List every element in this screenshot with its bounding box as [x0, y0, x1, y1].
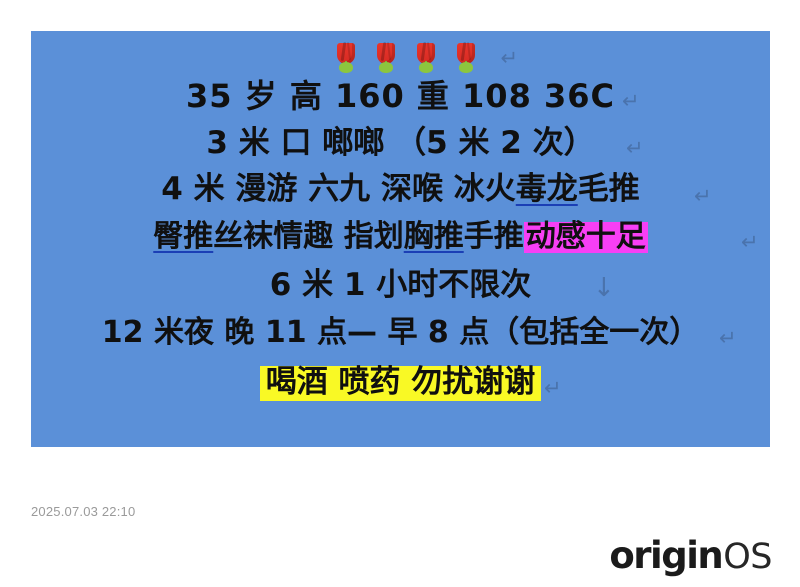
- poster-text-highlight-magenta: 动感十足: [524, 222, 648, 253]
- poster-text-highlight-yellow: 喝酒 喷药 勿扰谢谢: [260, 366, 542, 401]
- timestamp-label: 2025.07.03 22:10: [31, 504, 135, 519]
- return-mark-icon: ↵: [544, 378, 562, 399]
- return-mark-icon: ↵: [622, 91, 641, 112]
- poster-text: 丝袜情趣 指划: [213, 222, 403, 253]
- poster-text: 35 岁 高 160 重 108 36C: [186, 80, 615, 113]
- image-panel[interactable]: ↵ 35 岁 高 160 重 108 36C ↵ 3 米 口 啷啷 （5 米 2…: [31, 31, 770, 447]
- poster-text-block: ↵ 35 岁 高 160 重 108 36C ↵ 3 米 口 啷啷 （5 米 2…: [31, 31, 770, 447]
- poster-text: 4 米 漫游 六九 深喉 冰火: [161, 174, 516, 206]
- watermark-os-text: OS: [723, 537, 772, 577]
- poster-text: 手推: [464, 222, 524, 253]
- poster-line-notice: 喝酒 喷药 勿扰谢谢 ↵: [31, 366, 770, 414]
- poster-line-3m: 3 米 口 啷啷 （5 米 2 次） ↵: [31, 128, 770, 174]
- return-mark-icon: ↵: [741, 232, 759, 253]
- tulip-emoji: [375, 43, 397, 73]
- poster-line-6m: 6 米 1 小时不限次 ↓: [31, 270, 770, 318]
- down-arrow-mark-icon: ↓: [593, 275, 615, 302]
- poster-text: 6 米 1 小时不限次: [270, 270, 532, 302]
- poster-text-underlined: 胸推: [404, 222, 464, 253]
- return-mark-icon: ↵: [694, 186, 712, 207]
- return-mark-icon: ↵: [626, 138, 644, 159]
- screenshot-canvas: ↵ 35 岁 高 160 重 108 36C ↵ 3 米 口 啷啷 （5 米 2…: [0, 0, 800, 587]
- poster-text: 毛推: [578, 174, 640, 206]
- tulip-emoji: [335, 43, 357, 73]
- poster-text: 3 米 口 啷啷 （5 米 2 次）: [206, 128, 594, 160]
- originos-watermark: originOS: [609, 534, 772, 574]
- poster-text-underlined: 臀推: [153, 222, 213, 253]
- flower-emoji-row: ↵: [31, 36, 770, 80]
- return-mark-icon: ↵: [719, 328, 737, 349]
- poster-text-underlined: 毒龙: [516, 174, 578, 206]
- return-mark-icon: ↵: [501, 48, 530, 69]
- poster-line-12m: 12 米夜 晚 11 点— 早 8 点（包括全一次） ↵: [31, 318, 770, 366]
- poster-text: 12 米夜 晚 11 点— 早 8 点（包括全一次）: [102, 318, 699, 349]
- poster-line-stats: 35 岁 高 160 重 108 36C ↵: [31, 80, 770, 128]
- tulip-emoji: [415, 43, 437, 73]
- tulip-emoji: [455, 43, 477, 73]
- watermark-origin-text: origin: [609, 534, 722, 577]
- poster-line-4m: 4 米 漫游 六九 深喉 冰火 毒龙 毛推 ↵: [31, 174, 770, 222]
- poster-line-services: 臀推 丝袜情趣 指划 胸推 手推 动感十足 ↵: [31, 222, 770, 270]
